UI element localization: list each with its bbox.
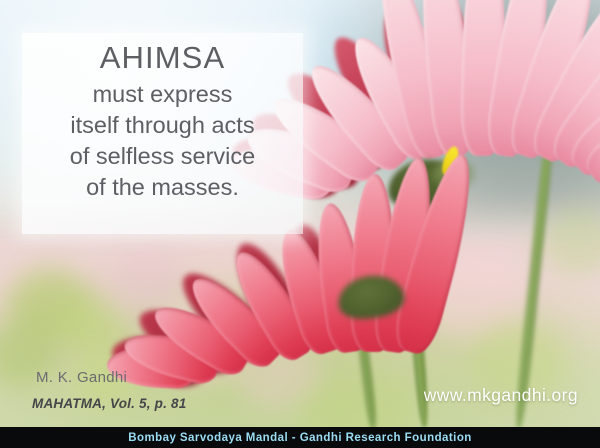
- quote-card: AHIMSA must express itself through acts …: [0, 0, 600, 448]
- source-reference: MAHATMA, Vol. 5, p. 81: [32, 397, 186, 411]
- footer-bar: Bombay Sarvodaya Mandal - Gandhi Researc…: [0, 427, 600, 448]
- footer-organization-text: Bombay Sarvodaya Mandal - Gandhi Researc…: [128, 432, 472, 444]
- quote-panel: AHIMSA must express itself through acts …: [22, 33, 303, 234]
- attribution: M. K. Gandhi MAHATMA, Vol. 5, p. 81: [32, 370, 186, 411]
- author-name: M. K. Gandhi: [36, 370, 186, 385]
- bokeh-circle: [112, 252, 182, 314]
- quote-headline: AHIMSA: [100, 42, 225, 75]
- website-url[interactable]: www.mkgandhi.org: [424, 385, 578, 406]
- quote-body-text: must express itself through acts of self…: [70, 79, 255, 203]
- flower-photograph: AHIMSA must express itself through acts …: [0, 0, 600, 427]
